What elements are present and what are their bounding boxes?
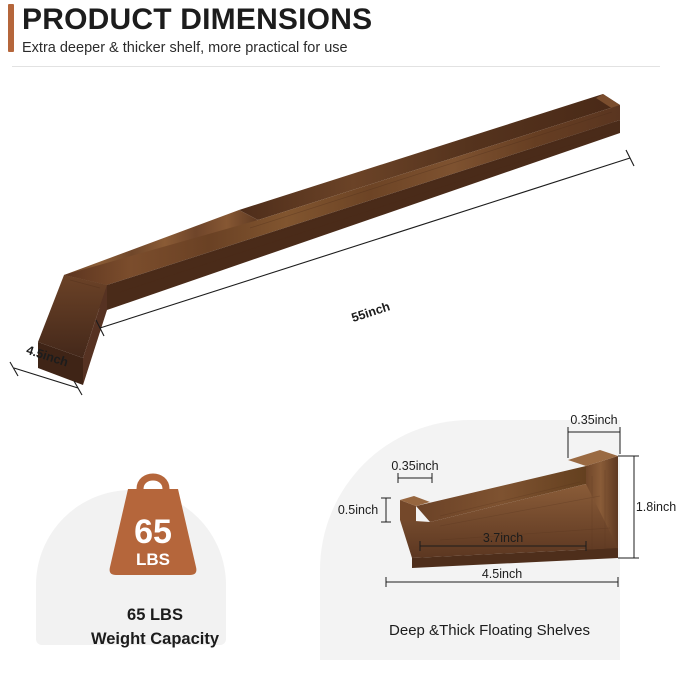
weight-capacity-line1: 65 LBS [30,603,280,627]
weight-badge: 65 LBS [98,455,208,595]
product-dimensions-infographic: PRODUCT DIMENSIONS Extra deeper & thicke… [0,0,679,679]
header: PRODUCT DIMENSIONS Extra deeper & thicke… [0,0,679,64]
shelf-bottom-edge [107,120,620,310]
label-total-height: 1.8inch [636,500,676,514]
weight-number: 65 [134,513,172,551]
label-inner-width: 3.7inch [483,531,523,545]
accent-bar [8,4,14,52]
length-dimension-label: 55inch [350,299,392,325]
weight-handle [140,477,166,489]
page-subtitle: Extra deeper & thicker shelf, more pract… [22,38,348,58]
weight-capacity-block: 65 LBS 65 LBS Weight Capacity [30,455,290,645]
label-front-lip-height: 0.5inch [338,503,378,517]
header-divider [12,66,660,67]
page-title: PRODUCT DIMENSIONS [22,0,372,40]
label-total-width: 4.5inch [482,567,522,581]
shelf-perspective-svg: 55inch 4.5inch [0,70,679,400]
cross-section-block: 0.35inch 0.35inch 1.8inch 0.5inch 3.7inc… [300,400,679,660]
weight-icon: 65 LBS [98,455,208,590]
weight-capacity-caption: 65 LBS Weight Capacity [30,603,280,651]
label-top-lip-thickness: 0.35inch [570,413,617,427]
weight-capacity-line2: Weight Capacity [30,627,280,651]
weight-unit: LBS [136,550,170,569]
shelf-back-lip [239,94,620,220]
hero-shelf-illustration: 55inch 4.5inch [0,70,679,400]
cross-section-caption: Deep &Thick Floating Shelves [300,622,679,639]
label-back-thickness: 0.35inch [391,459,438,473]
cross-section-svg: 0.35inch 0.35inch 1.8inch 0.5inch 3.7inc… [300,400,679,630]
shelf-front-face [64,105,620,285]
